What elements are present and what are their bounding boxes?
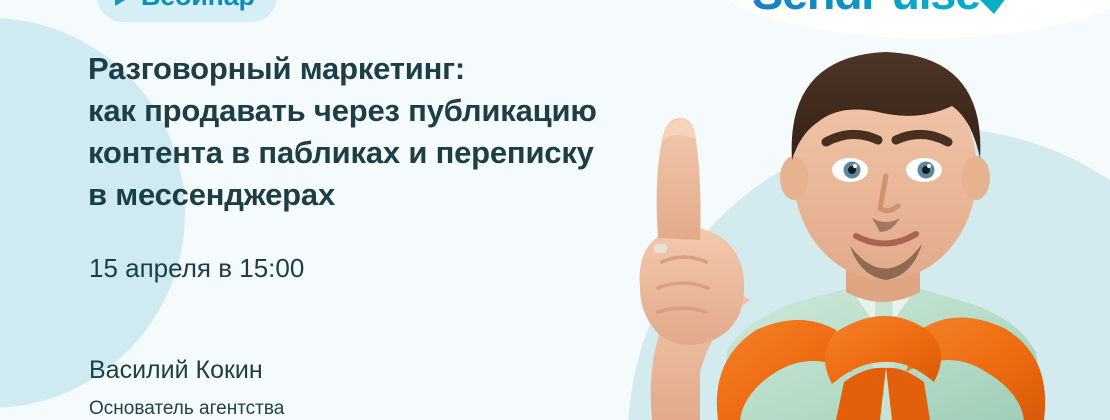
sendpulse-logo-wordmark: SendPulse [752, 0, 980, 16]
webinar-badge: Вебинар [97, 0, 277, 22]
checkmark-swoosh-icon [978, 0, 1024, 16]
webinar-badge-label: Вебинар [141, 0, 255, 10]
speaker-photo [600, 0, 1110, 420]
webinar-promo-banner: Вебинар SendPulse [0, 0, 1110, 420]
play-triangle-icon [115, 0, 132, 6]
speaker-role: Основатель агентства [89, 398, 284, 420]
page-title: Разговорный маркетинг: как продавать чер… [88, 48, 597, 216]
speaker-name: Василий Кокин [89, 355, 263, 385]
schedule-datetime: 15 апреля в 15:00 [89, 253, 304, 284]
sendpulse-logo: SendPulse [752, 0, 1024, 16]
